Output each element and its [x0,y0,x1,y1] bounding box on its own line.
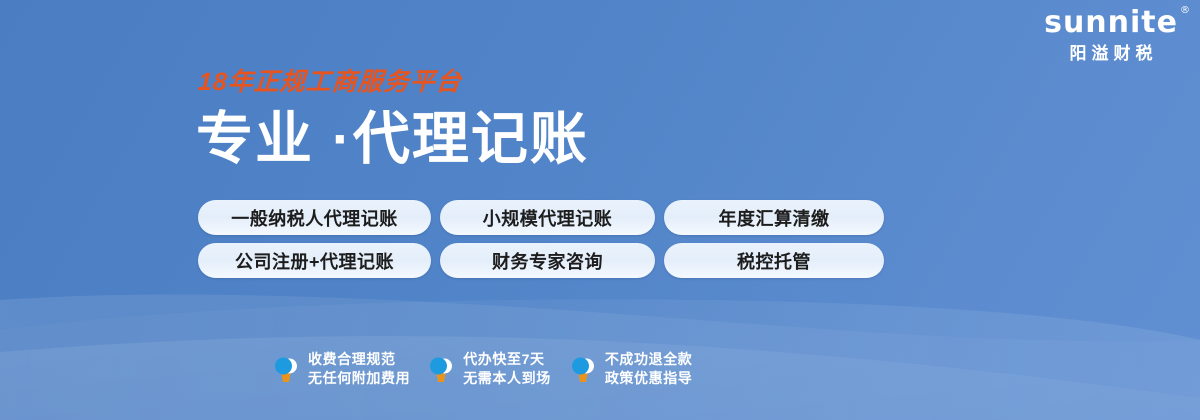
feature-item: 收费合理规范 无任何附加费用 [272,350,410,388]
registered-trademark-icon: ® [1180,6,1191,16]
brand-logo[interactable]: sunnite ® 阳溢财税 [1044,8,1178,62]
service-pill-row: 一般纳税人代理记账 小规模代理记账 年度汇算清缴 [198,200,884,235]
hero-text-block: 18年正规工商服务平台 专业 ·代理记账 [196,70,589,168]
feature-line-2: 无任何附加费用 [308,369,410,388]
logo-chinese-name: 阳溢财税 [1044,45,1178,62]
blue-orange-badge-icon [427,354,455,384]
logo-wordmark-text: sunnite [1044,5,1178,40]
service-pill[interactable]: 公司注册+代理记账 [198,243,431,278]
feature-list: 收费合理规范 无任何附加费用 代办快至7天 无需本人到场 [272,350,692,388]
service-pill[interactable]: 小规模代理记账 [440,200,655,235]
feature-text: 收费合理规范 无任何附加费用 [308,350,410,388]
feature-line-2: 政策优惠指导 [605,369,693,388]
feature-line-1: 代办快至7天 [463,350,551,369]
logo-wordmark: sunnite ® [1044,8,1178,38]
service-pill[interactable]: 财务专家咨询 [440,243,655,278]
promo-banner: sunnite ® 阳溢财税 18年正规工商服务平台 专业 ·代理记账 一般纳税… [0,0,1200,420]
service-pill[interactable]: 年度汇算清缴 [664,200,884,235]
service-pill[interactable]: 税控托管 [664,243,884,278]
service-pill-row: 公司注册+代理记账 财务专家咨询 税控托管 [198,243,884,278]
service-pill[interactable]: 一般纳税人代理记账 [198,200,431,235]
blue-orange-badge-icon [272,354,300,384]
feature-item: 代办快至7天 无需本人到场 [427,350,551,388]
blue-orange-badge-icon [569,354,597,384]
feature-text: 代办快至7天 无需本人到场 [463,350,551,388]
feature-line-1: 收费合理规范 [308,350,410,369]
feature-line-1: 不成功退全款 [605,350,693,369]
service-pill-list: 一般纳税人代理记账 小规模代理记账 年度汇算清缴 公司注册+代理记账 财务专家咨… [198,200,884,286]
feature-text: 不成功退全款 政策优惠指导 [605,350,693,388]
feature-item: 不成功退全款 政策优惠指导 [569,350,693,388]
hero-headline: 专业 ·代理记账 [196,111,589,168]
hero-eyebrow: 18年正规工商服务平台 [197,70,590,95]
feature-line-2: 无需本人到场 [463,369,551,388]
